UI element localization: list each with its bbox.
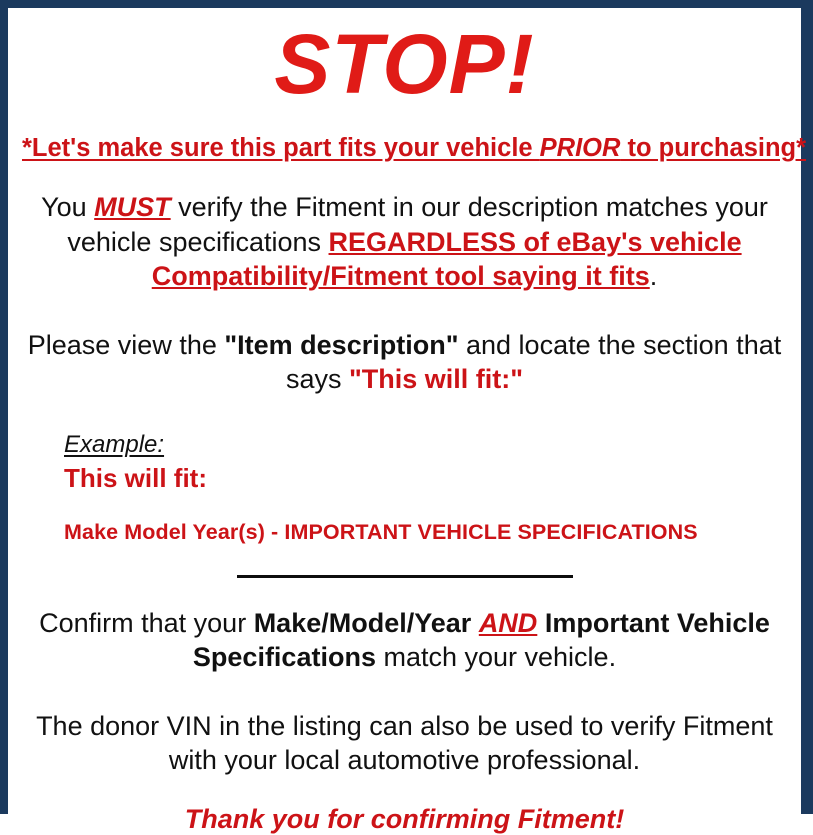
paragraph-donor-vin: The donor VIN in the listing can also be…: [25, 709, 785, 778]
example-label-row: Example:: [64, 431, 787, 459]
example-label: Example:: [64, 431, 164, 459]
section-divider: [237, 575, 573, 578]
example-fit-heading: This will fit:: [64, 463, 787, 494]
notice-sheet: STOP! *Let's make sure this part fits yo…: [8, 22, 801, 816]
para3-part1: Confirm that your: [39, 608, 254, 638]
subtitle-after: to purchasing*: [620, 134, 806, 162]
subtitle-emphasis: PRIOR: [540, 134, 621, 162]
stop-heading: STOP!: [22, 22, 787, 106]
paragraph-verify-fitment: You MUST verify the Fitment in our descr…: [25, 190, 785, 294]
paragraph-confirm-match: Confirm that your Make/Model/Year AND Im…: [25, 606, 785, 675]
subtitle-line: *Let's make sure this part fits your veh…: [22, 134, 787, 162]
closing-line: Thank you for confirming Fitment!: [22, 804, 787, 835]
example-block: Example: This will fit: Make Model Year(…: [64, 431, 787, 545]
and-emphasis: AND: [479, 608, 538, 638]
item-description-emphasis: "Item description": [224, 330, 458, 360]
this-will-fit-emphasis: "This will fit:": [349, 364, 523, 394]
divider-wrap: [22, 575, 787, 578]
must-emphasis: MUST: [94, 192, 171, 222]
para1-part3: .: [650, 261, 658, 291]
notice-frame: STOP! *Let's make sure this part fits yo…: [0, 0, 813, 814]
para1-part1: You: [41, 192, 94, 222]
subtitle-before: *Let's make sure this part fits your veh…: [22, 134, 540, 162]
example-spec-line: Make Model Year(s) - IMPORTANT VEHICLE S…: [64, 520, 787, 545]
para3-part2: match your vehicle.: [376, 642, 616, 672]
paragraph-item-description: Please view the "Item description" and l…: [25, 328, 785, 397]
make-model-year-emphasis: Make/Model/Year: [254, 608, 472, 638]
para2-part1: Please view the: [28, 330, 225, 360]
